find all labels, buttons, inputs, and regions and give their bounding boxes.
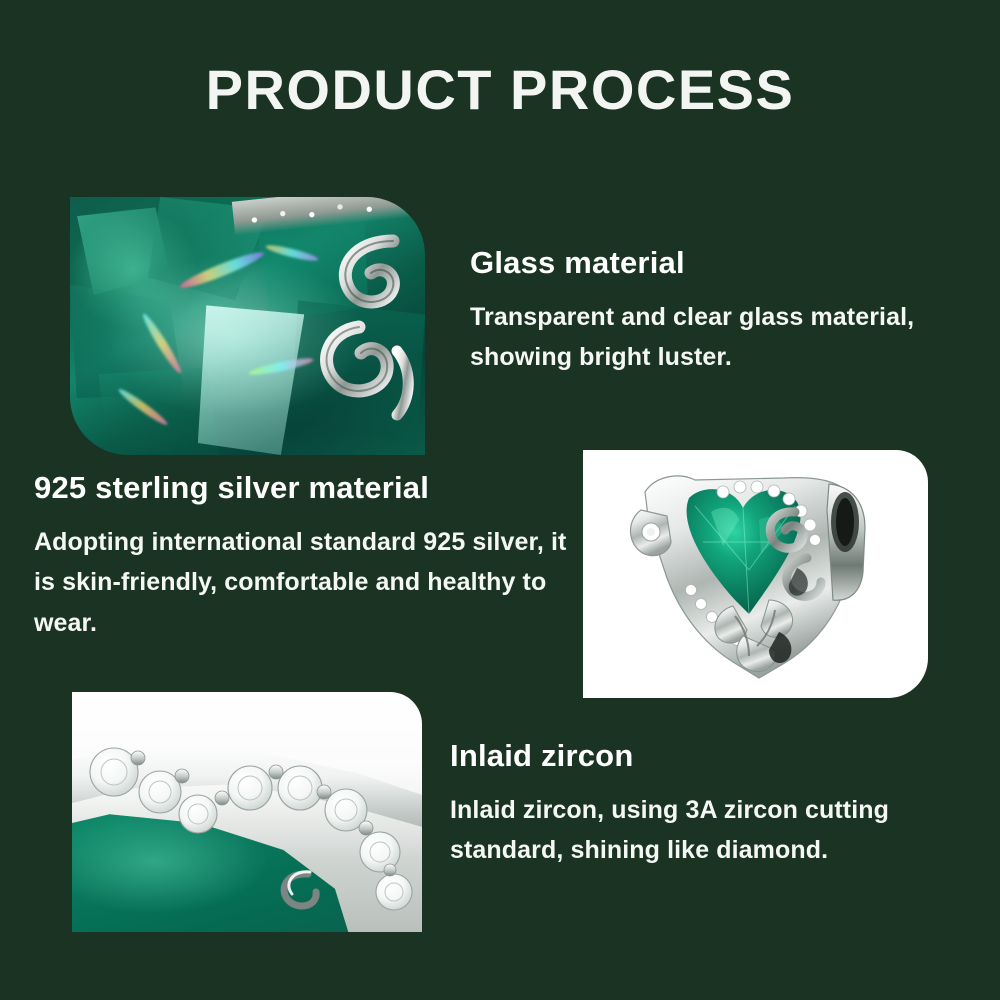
product-process-banner: PRODUCT PROCESS: [0, 0, 1000, 1000]
silver-material-heading: 925 sterling silver material: [34, 470, 579, 506]
gem-facet-highlight: [198, 305, 305, 455]
inlaid-zircon-image: [72, 692, 422, 932]
silver-scroll-ornament-icon: [301, 231, 419, 421]
heart-charm-bead-illustration: [583, 450, 928, 698]
sterling-silver-charm-image: [583, 450, 928, 698]
glass-material-text-block: Glass material Transparent and clear gla…: [470, 245, 950, 378]
zircon-stones-row: [72, 692, 422, 932]
silver-material-body: Adopting international standard 925 silv…: [34, 522, 579, 644]
inlaid-zircon-text-block: Inlaid zircon Inlaid zircon, using 3A zi…: [450, 738, 970, 871]
inlaid-zircon-body: Inlaid zircon, using 3A zircon cutting s…: [450, 790, 970, 871]
silver-material-text-block: 925 sterling silver material Adopting in…: [34, 470, 579, 643]
inlaid-zircon-heading: Inlaid zircon: [450, 738, 970, 774]
glass-material-heading: Glass material: [470, 245, 950, 281]
page-title: PRODUCT PROCESS: [0, 62, 1000, 118]
glass-material-body: Transparent and clear glass material, sh…: [470, 297, 950, 378]
glass-material-image: [70, 197, 425, 455]
